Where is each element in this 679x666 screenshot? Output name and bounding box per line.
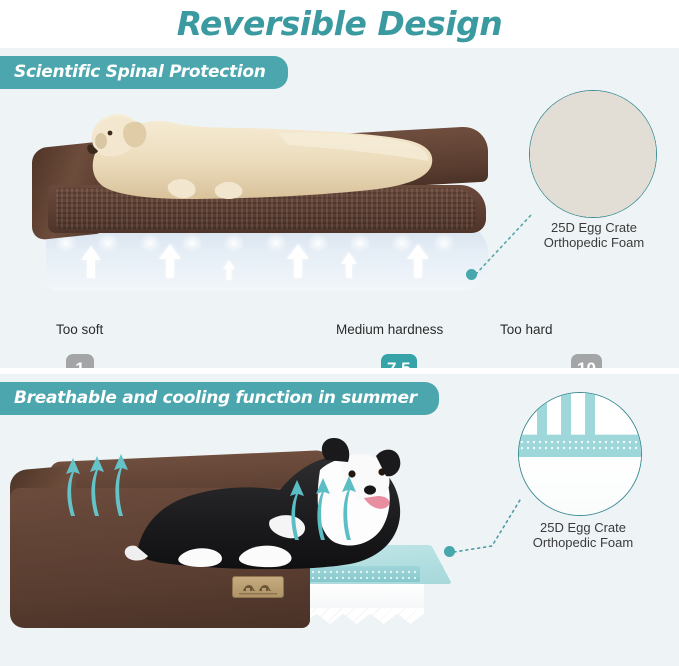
scale-chip-10: 10: [571, 354, 602, 368]
cooling-gel-foam-closeup-icon: [518, 392, 642, 516]
dog-logo-patch-icon: [232, 576, 284, 598]
callout-anchor-dot: [444, 546, 455, 557]
scale-track: 1 7.5 10: [66, 354, 614, 368]
arrow-up-icon: [158, 243, 182, 279]
arrow-up-icon: [340, 251, 358, 279]
callout-label-spinal: 25D Egg Crate Orthopedic Foam: [514, 220, 674, 250]
border-collie-image: [120, 416, 420, 581]
arrow-up-icon: [222, 259, 236, 281]
scale-top-label-medium: Medium hardness: [336, 322, 443, 337]
golden-retriever-image: [48, 99, 438, 207]
section-banner-cooling: Breathable and cooling function in summe…: [0, 382, 439, 415]
section-banner-spinal: Scientific Spinal Protection: [0, 56, 288, 89]
arrow-up-icon: [286, 243, 310, 279]
scale-top-label-soft: Too soft: [56, 322, 103, 337]
airflow-arrow-icon: [110, 452, 132, 518]
section-spinal-protection: Scientific Spinal Protection: [0, 48, 679, 368]
airflow-arrow-icon: [286, 478, 308, 542]
egg-crate-foam-closeup-icon: [529, 90, 657, 218]
hardness-scale: Too soft Medium hardness Too hard 1 7.5 …: [0, 320, 679, 368]
airflow-arrow-icon: [338, 474, 360, 542]
airflow-arrow-icon: [312, 476, 334, 542]
page-title: Reversible Design: [0, 0, 679, 48]
callout-anchor-dot: [466, 269, 477, 280]
airflow-arrow-icon: [62, 456, 84, 518]
airflow-arrow-icon: [86, 454, 108, 518]
arrow-up-icon: [406, 243, 430, 279]
bed-scene-cooling: [10, 416, 490, 666]
bed-scene-spinal: [18, 93, 488, 318]
scale-chip-7-5: 7.5: [381, 354, 417, 368]
section-cooling: Breathable and cooling function in summe…: [0, 374, 679, 666]
callout-label-cooling: 25D Egg Crate Orthopedic Foam: [500, 520, 666, 550]
scale-chip-1: 1: [66, 354, 94, 368]
arrow-up-icon: [80, 245, 102, 279]
scale-top-label-hard: Too hard: [500, 322, 553, 337]
